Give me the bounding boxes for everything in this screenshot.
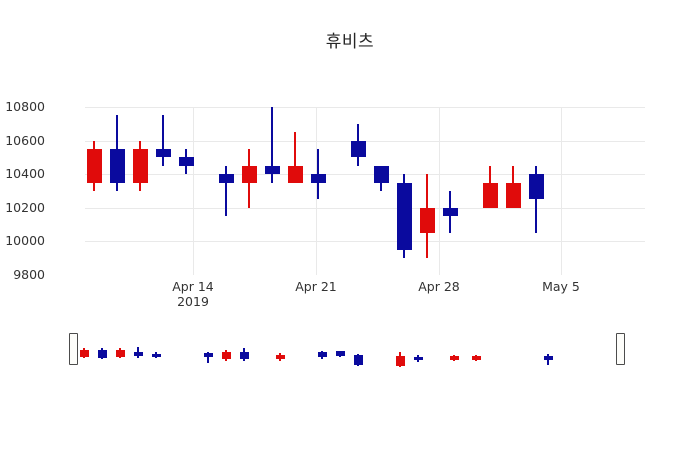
range-end-handle[interactable] (616, 333, 625, 365)
candle-body (529, 174, 544, 199)
range-candle-body (80, 350, 89, 357)
y-axis-tick-label: 10200 (0, 200, 45, 215)
gridline-vertical (439, 107, 440, 275)
range-selector-candle (116, 330, 125, 372)
x-axis-tick-label: Apr 21 (256, 279, 376, 294)
candlestick[interactable] (87, 107, 102, 275)
candle-body (443, 208, 458, 216)
range-selector-candle (204, 330, 213, 372)
gridline-vertical (561, 107, 562, 275)
y-axis-tick-label: 9800 (0, 267, 45, 282)
range-selector-candle (544, 330, 553, 372)
candlestick[interactable] (443, 107, 458, 275)
y-axis-tick-label: 10000 (0, 233, 45, 248)
range-selector-candle (240, 330, 249, 372)
candlestick[interactable] (265, 107, 280, 275)
x-axis-tick-line1: Apr 14 (133, 279, 253, 294)
candle-body (179, 157, 194, 165)
range-candle-body (336, 351, 345, 356)
candle-body (397, 183, 412, 250)
range-selector-candle (472, 330, 481, 372)
range-selector-candle (396, 330, 405, 372)
x-axis-tick-label: May 5 (501, 279, 621, 294)
candlestick[interactable] (420, 107, 435, 275)
range-candle-body (544, 356, 553, 360)
candle-body (110, 149, 125, 183)
candle-body (265, 166, 280, 174)
candlestick[interactable] (351, 107, 366, 275)
range-selector-candle (98, 330, 107, 372)
candle-body (311, 174, 326, 182)
range-candle-body (472, 356, 481, 360)
range-selector-candle (152, 330, 161, 372)
range-selector-candle (354, 330, 363, 372)
range-candle-body (204, 353, 213, 357)
candlestick[interactable] (529, 107, 544, 275)
range-candle-body (414, 357, 423, 360)
range-selector-candle (336, 330, 345, 372)
candle-body (483, 183, 498, 208)
candlestick[interactable] (311, 107, 326, 275)
range-selector-candle (134, 330, 143, 372)
candlestick[interactable] (110, 107, 125, 275)
range-candle-body (134, 352, 143, 356)
candle-body (506, 183, 521, 208)
candle-body (242, 166, 257, 183)
range-candle-body (152, 354, 161, 357)
candlestick[interactable] (179, 107, 194, 275)
candle-body (288, 166, 303, 183)
candlestick[interactable] (397, 107, 412, 275)
x-axis-tick-line1: Apr 21 (256, 279, 376, 294)
range-candle-body (116, 350, 125, 357)
candlestick[interactable] (242, 107, 257, 275)
candle-body (133, 149, 148, 183)
y-axis-tick-label: 10600 (0, 133, 45, 148)
x-axis-tick-line1: Apr 28 (379, 279, 499, 294)
range-start-handle[interactable] (69, 333, 78, 365)
candle-body (420, 208, 435, 233)
range-candle-body (450, 356, 459, 360)
range-selector-candle (80, 330, 89, 372)
candlestick[interactable] (133, 107, 148, 275)
range-candle-body (276, 355, 285, 359)
range-candle-body (318, 352, 327, 357)
candlestick[interactable] (219, 107, 234, 275)
candlestick[interactable] (374, 107, 389, 275)
range-selector-candle (276, 330, 285, 372)
candlestick[interactable] (156, 107, 171, 275)
candle-body (351, 141, 366, 158)
candle-body (219, 174, 234, 182)
candlestick[interactable] (288, 107, 303, 275)
x-axis-tick-line1: May 5 (501, 279, 621, 294)
candle-body (156, 149, 171, 157)
range-selector-candle (450, 330, 459, 372)
candlestick-chart-screenshot: 휴비츠 10800106001040010200100009800 Apr 14… (0, 0, 700, 450)
candle-body (374, 166, 389, 183)
y-axis-tick-label: 10400 (0, 166, 45, 181)
range-selector-candle (414, 330, 423, 372)
candlestick[interactable] (483, 107, 498, 275)
range-candle-body (98, 350, 107, 358)
range-selector-candle (318, 330, 327, 372)
candlestick[interactable] (506, 107, 521, 275)
range-candle-body (222, 352, 231, 359)
range-candle-body (396, 356, 405, 366)
x-axis-tick-line2: 2019 (133, 294, 253, 309)
x-axis-tick-label: Apr 28 (379, 279, 499, 294)
y-axis-tick-label: 10800 (0, 99, 45, 114)
x-axis-tick-label: Apr 142019 (133, 279, 253, 309)
range-selector-candle (222, 330, 231, 372)
range-candle-body (354, 355, 363, 365)
candle-wick (162, 115, 164, 165)
main-plot-area[interactable] (85, 107, 645, 275)
range-selector[interactable] (66, 330, 628, 372)
range-candle-body (240, 352, 249, 359)
page-title: 휴비츠 (0, 27, 700, 52)
candle-body (87, 149, 102, 183)
